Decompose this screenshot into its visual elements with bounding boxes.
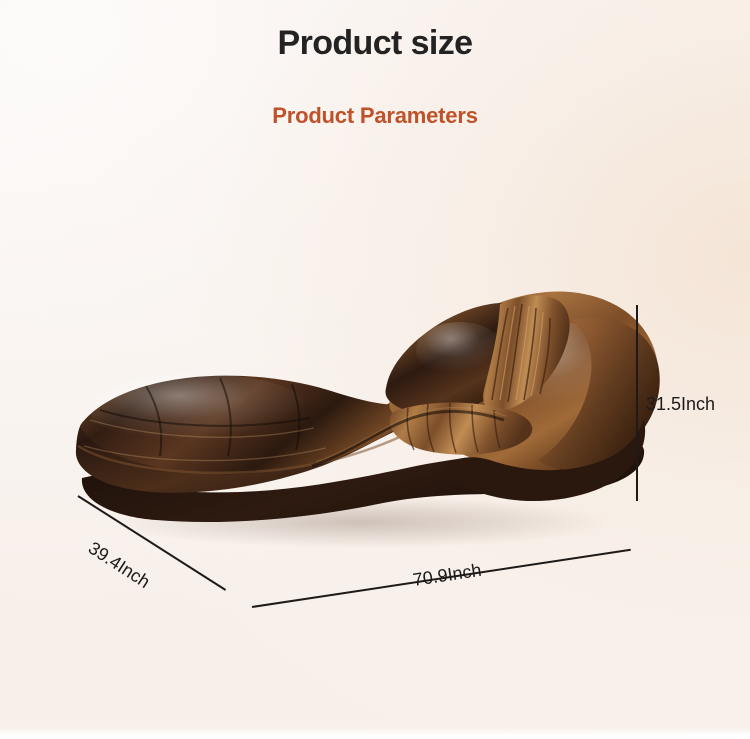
dimension-line-height (636, 305, 638, 501)
dimension-label-length: 70.9Inch (411, 560, 482, 591)
product-image (60, 260, 680, 560)
page-subtitle: Product Parameters (0, 103, 750, 129)
seat-gloss (90, 374, 310, 446)
bottom-edge-strip (0, 727, 750, 739)
product-size-infographic: Product size Product Parameters (0, 0, 750, 739)
dimension-label-height: 31.5Inch (646, 394, 715, 415)
page-title: Product size (0, 24, 750, 63)
